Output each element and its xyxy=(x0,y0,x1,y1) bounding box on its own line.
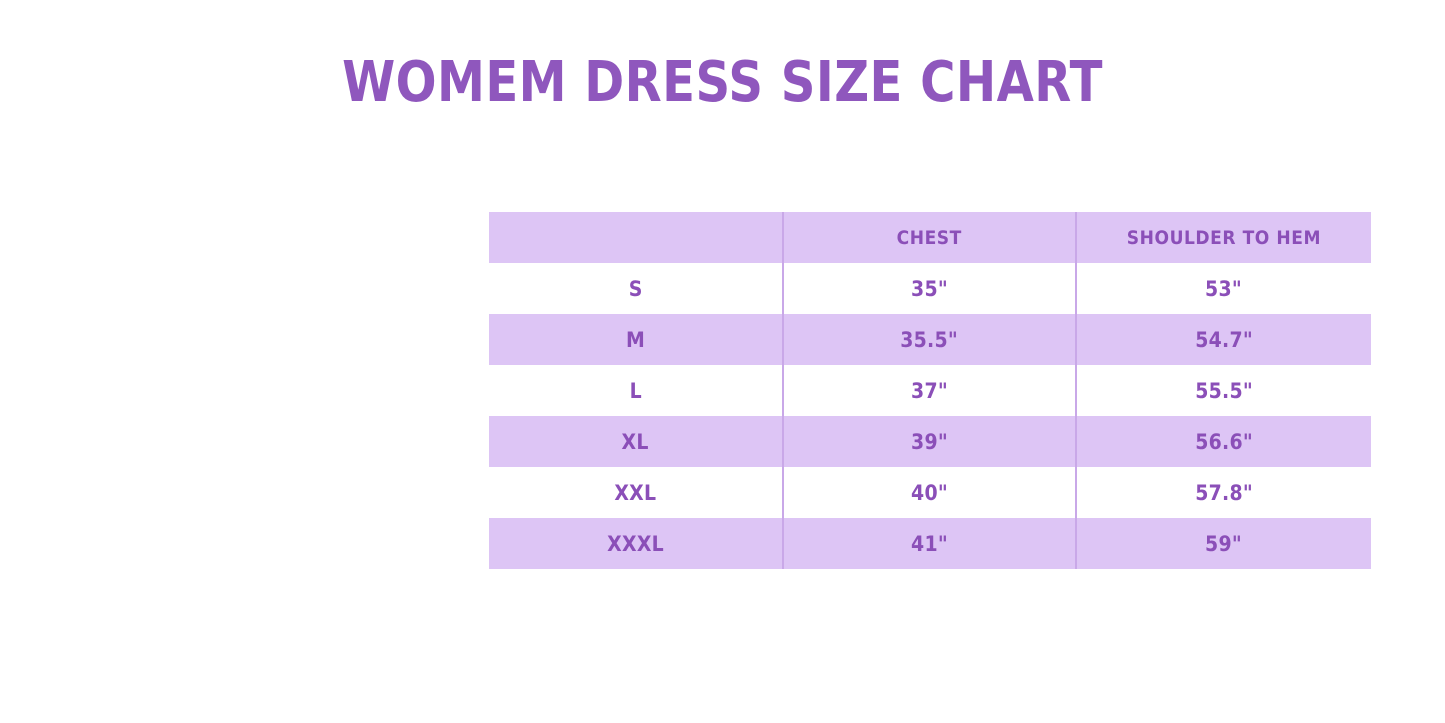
cell-chest: 39" xyxy=(783,416,1076,467)
cell-chest: 41" xyxy=(783,518,1076,569)
column-header-chest-label: CHEST xyxy=(897,227,962,249)
chest-value: 35.5" xyxy=(901,328,959,352)
cell-size: L xyxy=(489,365,783,416)
size-label: M xyxy=(626,328,645,352)
chest-value: 41" xyxy=(911,532,948,556)
chest-value: 40" xyxy=(911,481,948,505)
shoulder-to-hem-value: 55.5" xyxy=(1195,379,1253,403)
column-header-size xyxy=(489,212,783,263)
size-label: XXXL xyxy=(607,532,664,556)
column-header-chest: CHEST xyxy=(783,212,1076,263)
cell-shoulder-to-hem: 59" xyxy=(1076,518,1371,569)
table-row: S 35" 53" xyxy=(489,263,1371,314)
shoulder-to-hem-value: 56.6" xyxy=(1195,430,1253,454)
cell-shoulder-to-hem: 57.8" xyxy=(1076,467,1371,518)
size-label: L xyxy=(629,379,641,403)
size-label: S xyxy=(629,277,643,301)
cell-shoulder-to-hem: 53" xyxy=(1076,263,1371,314)
cell-chest: 40" xyxy=(783,467,1076,518)
size-chart-page: WOMEM DRESS SIZE CHART CHEST SHOULDER TO… xyxy=(0,0,1445,723)
size-chart-table: CHEST SHOULDER TO HEM S 35" 53" M 35.5" … xyxy=(489,212,1371,569)
table-row: L 37" 55.5" xyxy=(489,365,1371,416)
shoulder-to-hem-value: 57.8" xyxy=(1195,481,1253,505)
table-row: XXXL 41" 59" xyxy=(489,518,1371,569)
cell-size: M xyxy=(489,314,783,365)
cell-size: S xyxy=(489,263,783,314)
cell-chest: 35.5" xyxy=(783,314,1076,365)
shoulder-to-hem-value: 54.7" xyxy=(1195,328,1253,352)
size-label: XXL xyxy=(614,481,656,505)
table-row: XXL 40" 57.8" xyxy=(489,467,1371,518)
cell-shoulder-to-hem: 54.7" xyxy=(1076,314,1371,365)
cell-size: XL xyxy=(489,416,783,467)
cell-chest: 35" xyxy=(783,263,1076,314)
shoulder-to-hem-value: 59" xyxy=(1206,532,1243,556)
cell-shoulder-to-hem: 56.6" xyxy=(1076,416,1371,467)
column-header-shoulder-to-hem-label: SHOULDER TO HEM xyxy=(1127,227,1321,249)
cell-chest: 37" xyxy=(783,365,1076,416)
chest-value: 37" xyxy=(911,379,948,403)
chest-value: 39" xyxy=(911,430,948,454)
cell-shoulder-to-hem: 55.5" xyxy=(1076,365,1371,416)
cell-size: XXXL xyxy=(489,518,783,569)
table-row: M 35.5" 54.7" xyxy=(489,314,1371,365)
table-header-row: CHEST SHOULDER TO HEM xyxy=(489,212,1371,263)
page-title: WOMEM DRESS SIZE CHART xyxy=(101,52,1344,114)
cell-size: XXL xyxy=(489,467,783,518)
chest-value: 35" xyxy=(911,277,948,301)
size-label: XL xyxy=(622,430,649,454)
column-header-shoulder-to-hem: SHOULDER TO HEM xyxy=(1076,212,1371,263)
shoulder-to-hem-value: 53" xyxy=(1206,277,1243,301)
table-row: XL 39" 56.6" xyxy=(489,416,1371,467)
